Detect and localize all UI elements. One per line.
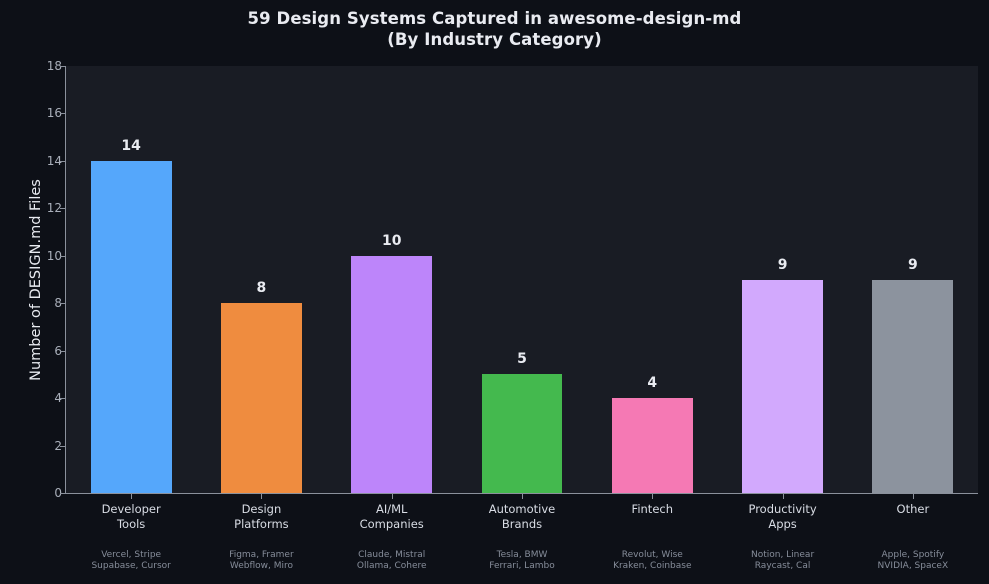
bar-value-label: 4 (612, 376, 692, 390)
category-line-1: Automotive (489, 502, 556, 516)
examples-line-1: Figma, Framer (229, 550, 293, 560)
bar-6[interactable] (742, 280, 823, 494)
x-axis-category-label: ProductivityApps (713, 502, 853, 531)
chart-title-main: 59 Design Systems Captured in awesome-de… (248, 9, 742, 28)
y-tick-mark (60, 493, 65, 494)
bar-value-label: 5 (482, 352, 562, 366)
examples-line-1: Notion, Linear (751, 550, 814, 560)
y-tick-mark (60, 351, 65, 352)
chart-title: 59 Design Systems Captured in awesome-de… (0, 8, 989, 50)
examples-line-2: Webflow, Miro (191, 561, 331, 572)
examples-line-2: Ollama, Cohere (322, 561, 462, 572)
x-axis-category-label: DeveloperTools (61, 502, 201, 531)
bar-1[interactable] (91, 161, 172, 493)
y-axis-label: Number of DESIGN.md Files (28, 65, 44, 495)
x-tick-mark (783, 494, 784, 499)
category-line-1: AI/ML (376, 502, 407, 516)
bar-chart-figure: 59 Design Systems Captured in awesome-de… (0, 0, 989, 584)
y-tick-mark (60, 446, 65, 447)
y-tick-label: 14 (0, 155, 62, 167)
y-tick-label: 2 (0, 440, 62, 452)
y-tick-mark (60, 161, 65, 162)
y-tick-label: 12 (0, 202, 62, 214)
y-tick-label: 4 (0, 392, 62, 404)
bar-5[interactable] (612, 398, 693, 493)
x-axis-category-label: AutomotiveBrands (452, 502, 592, 531)
category-line-2: Companies (322, 517, 462, 532)
category-examples: Apple, SpotifyNVIDIA, SpaceX (843, 550, 983, 572)
y-tick-label: 6 (0, 345, 62, 357)
category-examples: Revolut, WiseKraken, Coinbase (582, 550, 722, 572)
category-line-2: Platforms (191, 517, 331, 532)
bar-value-label: 10 (352, 234, 432, 248)
x-tick-mark (652, 494, 653, 499)
y-tick-mark (60, 303, 65, 304)
y-tick-mark (60, 66, 65, 67)
y-tick-mark (60, 113, 65, 114)
x-axis-category-label: AI/MLCompanies (322, 502, 462, 531)
examples-line-2: Supabase, Cursor (61, 561, 201, 572)
category-line-2: Tools (61, 517, 201, 532)
examples-line-2: Ferrari, Lambo (452, 561, 592, 572)
examples-line-2: NVIDIA, SpaceX (843, 561, 983, 572)
category-examples: Vercel, StripeSupabase, Cursor (61, 550, 201, 572)
examples-line-2: Kraken, Coinbase (582, 561, 722, 572)
examples-line-1: Apple, Spotify (882, 550, 945, 560)
category-examples: Claude, MistralOllama, Cohere (322, 550, 462, 572)
x-tick-mark (261, 494, 262, 499)
category-line-1: Other (897, 502, 930, 516)
bar-value-label: 8 (221, 281, 301, 295)
x-tick-mark (131, 494, 132, 499)
bar-2[interactable] (221, 303, 302, 493)
y-axis-spine (65, 66, 66, 493)
category-line-1: Fintech (632, 502, 673, 516)
y-tick-label: 18 (0, 60, 62, 72)
bar-4[interactable] (482, 374, 563, 493)
y-tick-label: 16 (0, 107, 62, 119)
x-axis-category-label: DesignPlatforms (191, 502, 331, 531)
examples-line-1: Tesla, BMW (497, 550, 548, 560)
examples-line-1: Revolut, Wise (622, 550, 683, 560)
y-tick-label: 8 (0, 297, 62, 309)
bar-7[interactable] (872, 280, 953, 494)
y-tick-mark (60, 256, 65, 257)
category-examples: Tesla, BMWFerrari, Lambo (452, 550, 592, 572)
x-axis-category-label: Other (843, 502, 983, 517)
category-line-2: Apps (713, 517, 853, 532)
examples-line-1: Claude, Mistral (358, 550, 425, 560)
category-examples: Notion, LinearRaycast, Cal (713, 550, 853, 572)
category-line-1: Design (242, 502, 282, 516)
y-tick-label: 0 (0, 487, 62, 499)
x-tick-mark (913, 494, 914, 499)
category-line-1: Developer (102, 502, 161, 516)
x-tick-mark (522, 494, 523, 499)
category-examples: Figma, FramerWebflow, Miro (191, 550, 331, 572)
y-tick-mark (60, 208, 65, 209)
category-line-2: Brands (452, 517, 592, 532)
bar-value-label: 14 (91, 139, 171, 153)
x-axis-category-label: Fintech (582, 502, 722, 517)
chart-subtitle: (By Industry Category) (0, 29, 989, 50)
bar-value-label: 9 (743, 258, 823, 272)
y-tick-mark (60, 398, 65, 399)
y-tick-label: 10 (0, 250, 62, 262)
bar-3[interactable] (351, 256, 432, 493)
examples-line-2: Raycast, Cal (713, 561, 853, 572)
bar-value-label: 9 (873, 258, 953, 272)
category-line-1: Productivity (748, 502, 816, 516)
examples-line-1: Vercel, Stripe (101, 550, 161, 560)
x-tick-mark (392, 494, 393, 499)
